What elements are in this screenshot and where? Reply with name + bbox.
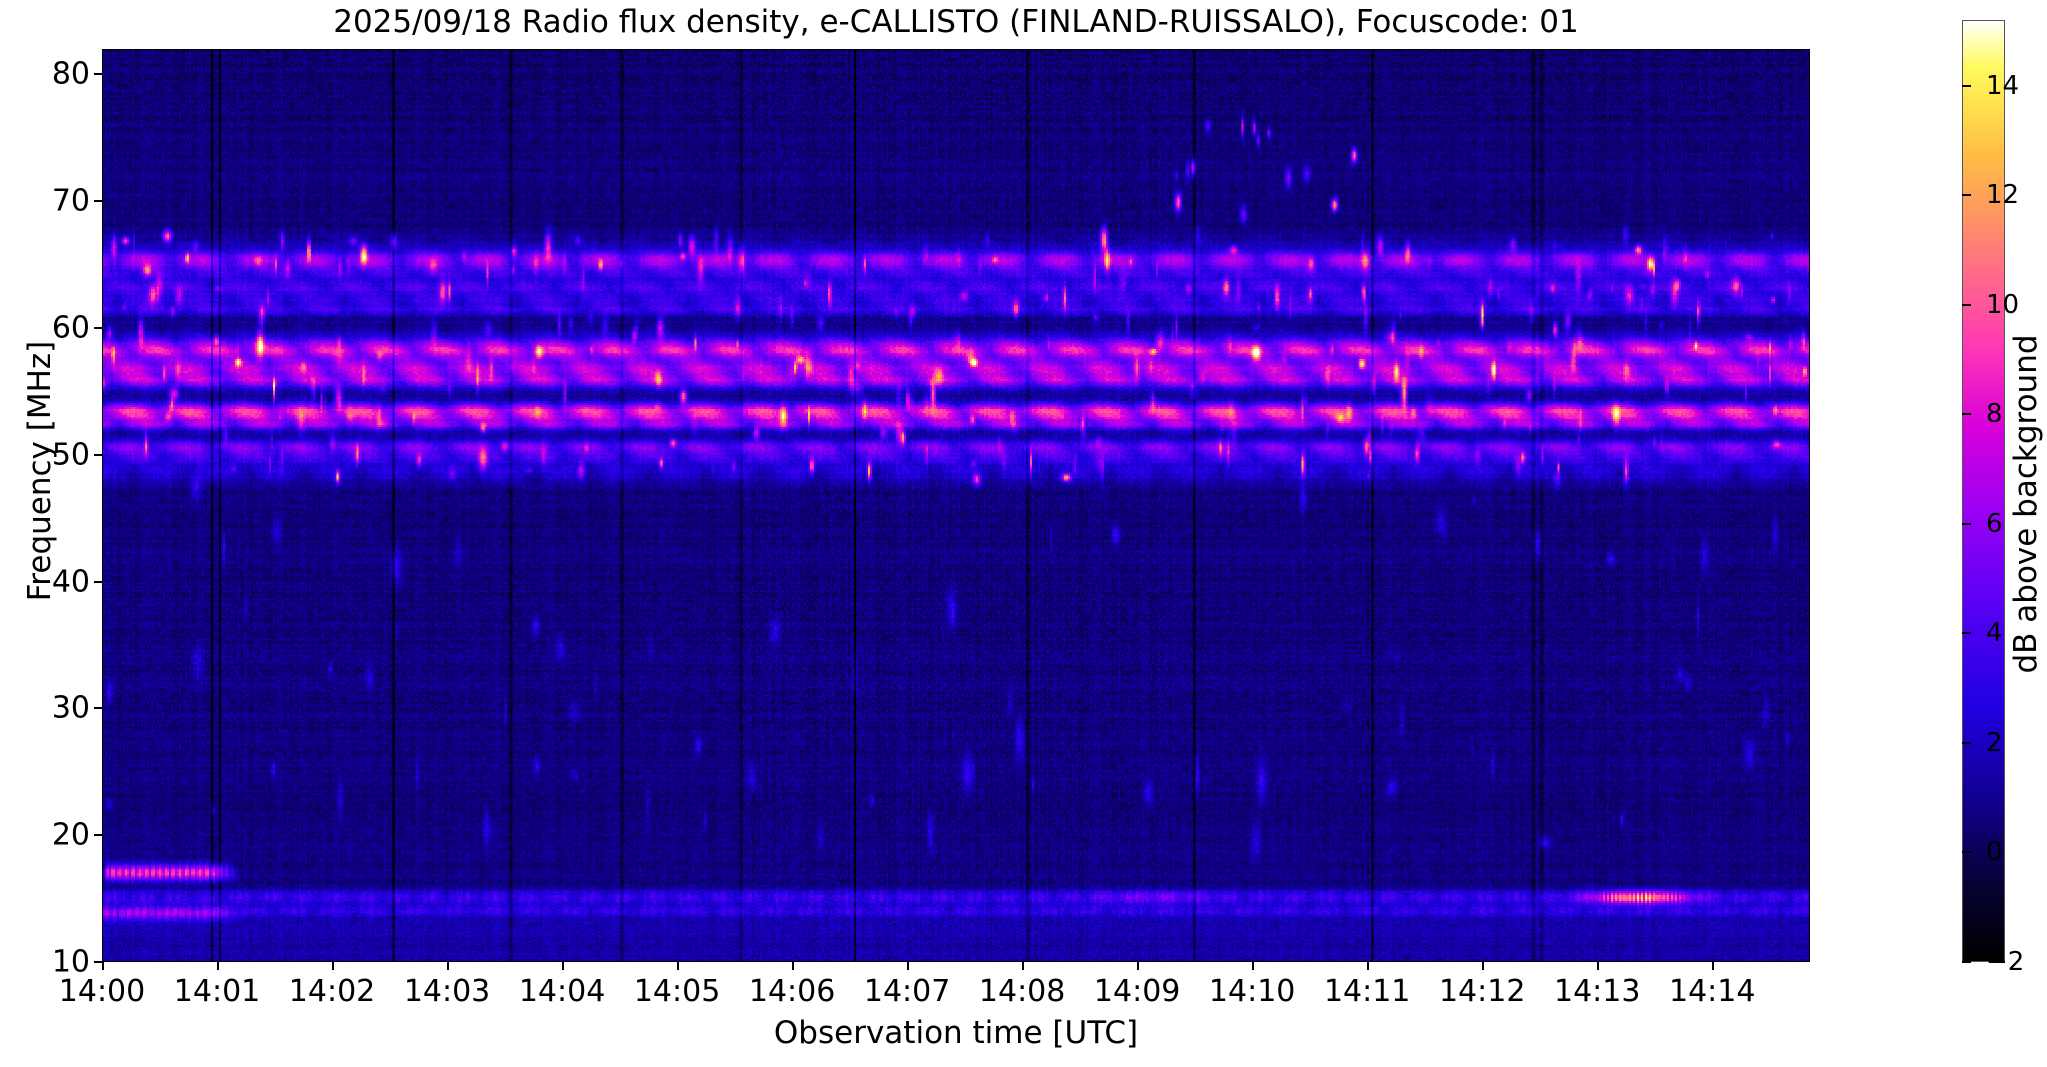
spectrogram-image xyxy=(103,50,1809,961)
x-axis-tick-label: 14:11 xyxy=(1324,974,1410,1009)
chart-title: 2025/09/18 Radio flux density, e-CALLIST… xyxy=(102,4,1810,40)
colorbar-tick-mark xyxy=(1962,742,1971,744)
y-axis-label: Frequency [MHz] xyxy=(22,91,58,851)
y-axis-tick-mark xyxy=(94,581,102,583)
colorbar-tick-label: 0 xyxy=(1986,837,2003,867)
x-axis-tick-label: 14:12 xyxy=(1439,974,1525,1009)
x-axis-tick-mark xyxy=(1367,962,1369,970)
spectrogram-canvas xyxy=(103,50,1809,961)
x-axis-tick-mark xyxy=(1252,962,1254,970)
x-axis-tick-label: 14:02 xyxy=(289,974,375,1009)
x-axis-tick-mark xyxy=(1597,962,1599,970)
colorbar-tick-mark xyxy=(1962,523,1971,525)
x-axis-tick-label: 14:09 xyxy=(1094,974,1180,1009)
colorbar-label-container: dB above background xyxy=(2004,0,2047,1067)
x-axis-tick-label: 14:03 xyxy=(404,974,490,1009)
x-axis-tick-mark xyxy=(1137,962,1139,970)
colorbar-label: dB above background xyxy=(2008,164,2044,844)
y-axis-tick-mark xyxy=(94,707,102,709)
x-axis-tick-label: 14:10 xyxy=(1209,974,1295,1009)
spectrogram-plot-area[interactable] xyxy=(102,49,1810,962)
colorbar-tick-mark xyxy=(1962,851,1971,853)
colorbar-tick-mark xyxy=(1962,304,1971,306)
y-axis-tick-mark xyxy=(94,73,102,75)
x-axis-tick-mark xyxy=(447,962,449,970)
colorbar-tick-label: 2 xyxy=(1986,728,2003,758)
x-axis-tick-mark xyxy=(907,962,909,970)
colorbar-tick-label: 6 xyxy=(1986,509,2003,539)
colorbar-tick-label: 4 xyxy=(1986,618,2003,648)
x-axis-tick-mark xyxy=(1712,962,1714,970)
x-axis-tick-label: 14:01 xyxy=(174,974,260,1009)
x-axis-tick-mark xyxy=(1482,962,1484,970)
colorbar-tick-mark xyxy=(1962,85,1971,87)
colorbar-tick-label: 8 xyxy=(1986,399,2003,429)
x-axis-tick-label: 14:13 xyxy=(1554,974,1640,1009)
x-axis-label: Observation time [UTC] xyxy=(102,1015,1810,1051)
colorbar-tick-mark xyxy=(1962,194,1971,196)
x-axis-tick-label: 14:07 xyxy=(864,974,950,1009)
x-axis-tick-mark xyxy=(332,962,334,970)
x-axis-tick-mark xyxy=(1022,962,1024,970)
y-axis-label-container: Frequency [MHz] xyxy=(22,0,62,1067)
y-axis-tick-mark xyxy=(94,454,102,456)
x-axis-tick-mark xyxy=(677,962,679,970)
x-axis-tick-mark xyxy=(102,962,104,970)
y-axis-tick-mark xyxy=(94,327,102,329)
x-axis-tick-mark xyxy=(562,962,564,970)
x-axis-tick-label: 14:06 xyxy=(749,974,835,1009)
x-axis-tick-mark xyxy=(217,962,219,970)
x-axis-tick-mark xyxy=(792,962,794,970)
colorbar-tick-mark xyxy=(1962,632,1971,634)
x-axis-tick-label: 14:08 xyxy=(979,974,1065,1009)
x-axis-tick-label: 14:04 xyxy=(519,974,605,1009)
colorbar-tick-mark xyxy=(1962,413,1971,415)
x-axis-tick-label: 14:00 xyxy=(59,974,145,1009)
radio-spectrogram-figure: 2025/09/18 Radio flux density, e-CALLIST… xyxy=(0,0,2047,1067)
y-axis-tick-mark xyxy=(94,834,102,836)
x-axis-tick-label: 14:05 xyxy=(634,974,720,1009)
x-axis-tick-label: 14:14 xyxy=(1669,974,1755,1009)
colorbar-tick-mark xyxy=(1962,961,1971,963)
y-axis-tick-mark xyxy=(94,200,102,202)
